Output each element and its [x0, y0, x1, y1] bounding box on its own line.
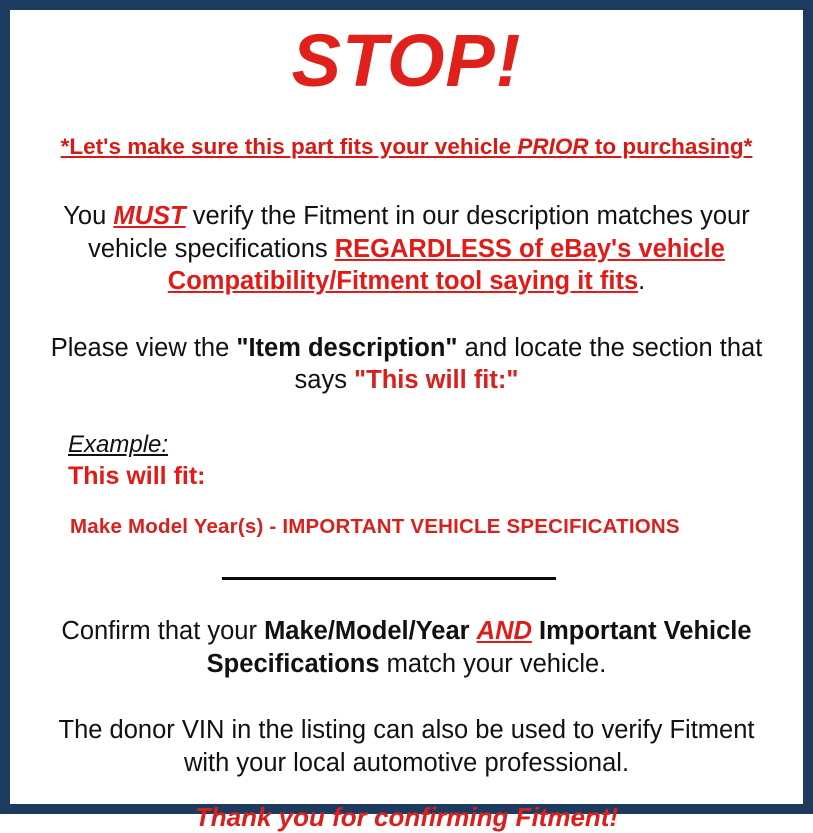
tagline-after: to purchasing* — [589, 134, 753, 159]
example-fit-header: This will fit: — [68, 459, 791, 491]
thank-you-message: Thank you for confirming Fitment! — [22, 780, 791, 833]
notice-content: STOP! *Let's make sure this part fits yo… — [10, 10, 803, 804]
confirm-text-1: Confirm that your — [61, 617, 264, 645]
confirm-text-2: match your vehicle. — [380, 650, 607, 678]
donor-vin-paragraph: The donor VIN in the listing can also be… — [22, 680, 791, 779]
must-emphasis: MUST — [113, 202, 185, 230]
page-title: STOP! — [22, 10, 791, 98]
tagline-before: *Let's make sure this part fits your veh… — [61, 134, 518, 159]
example-label: Example: — [68, 431, 791, 459]
must-verify-paragraph: You MUST verify the Fitment in our descr… — [22, 160, 791, 298]
and-emphasis: AND — [477, 617, 532, 645]
section-divider — [222, 577, 556, 580]
confirm-space-2 — [532, 617, 539, 645]
must-text-1: You — [63, 202, 113, 230]
confirm-space-1 — [470, 617, 477, 645]
example-spec-line: Make Model Year(s) - IMPORTANT VEHICLE S… — [68, 491, 791, 540]
example-block: Example: This will fit: Make Model Year(… — [22, 397, 791, 539]
tagline-emphasis: PRIOR — [517, 134, 588, 159]
view-text-1: Please view the — [51, 334, 237, 362]
this-will-fit-quote: "This will fit:" — [354, 366, 518, 394]
must-text-3: . — [638, 267, 645, 295]
confirm-paragraph: Confirm that your Make/Model/Year AND Im… — [22, 585, 791, 680]
tagline: *Let's make sure this part fits your veh… — [22, 98, 791, 160]
fitment-notice-card: STOP! *Let's make sure this part fits yo… — [0, 0, 813, 814]
divider-wrap — [22, 539, 791, 585]
make-model-year-emphasis: Make/Model/Year — [264, 617, 470, 645]
item-description-emphasis: "Item description" — [236, 334, 457, 362]
item-description-paragraph: Please view the "Item description" and l… — [22, 298, 791, 397]
